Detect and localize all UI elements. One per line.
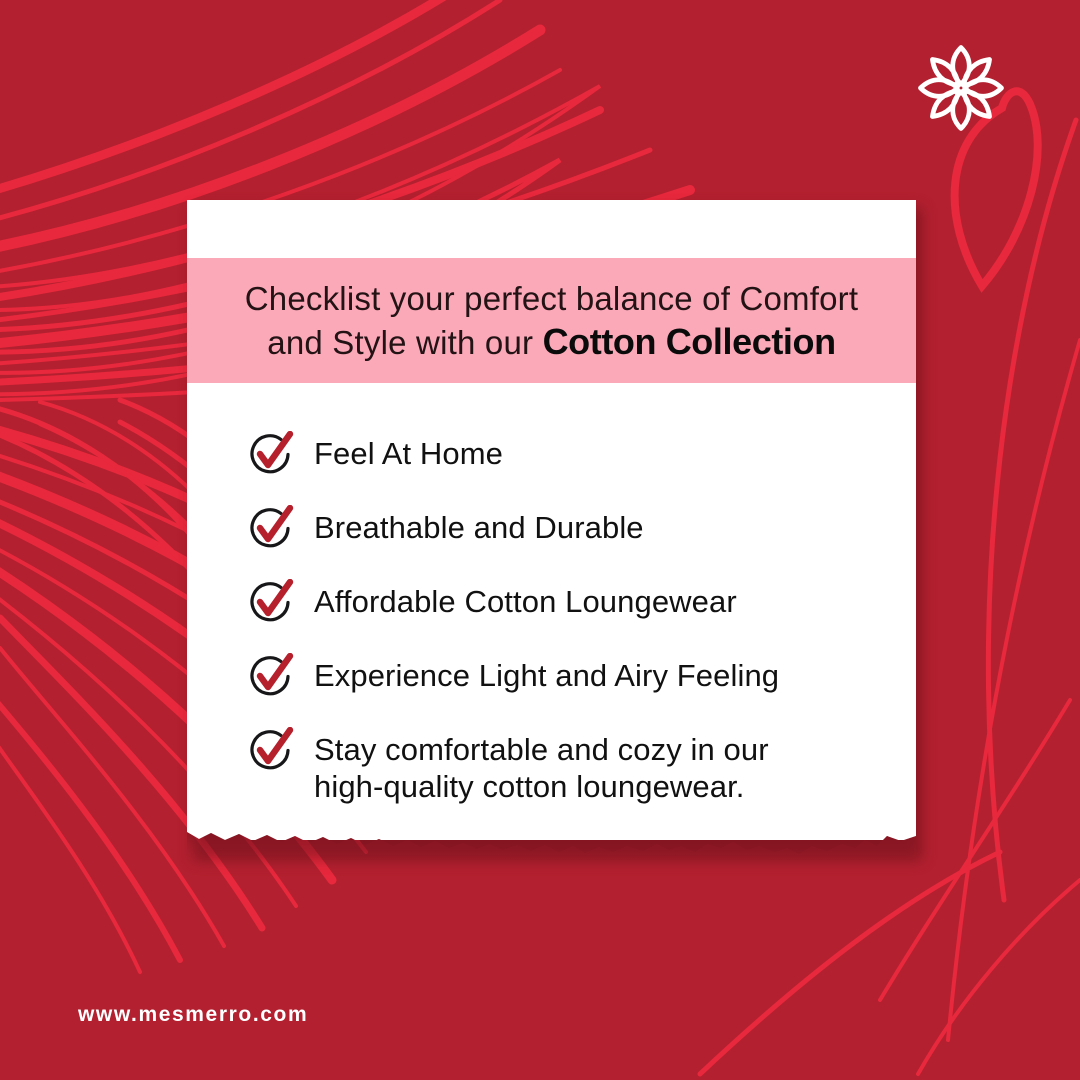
headline-line-1: Checklist your perfect balance of Comfor… — [245, 277, 858, 320]
headline-line-2-prefix: and Style with our — [267, 324, 542, 361]
site-url[interactable]: www.mesmerro.com — [78, 1003, 308, 1027]
headline: Checklist your perfect balance of Comfor… — [187, 258, 916, 383]
list-item-label: Feel At Home — [314, 432, 503, 472]
headline-emphasis: Cotton Collection — [543, 321, 836, 362]
promo-poster: Checklist your perfect balance of Comfor… — [0, 0, 1080, 1080]
flower-rosette-icon — [915, 42, 1007, 134]
headline-line-2: and Style with our Cotton Collection — [267, 320, 835, 364]
check-circle-icon — [247, 579, 295, 627]
list-item-label: Stay comfortable and cozy in our high-qu… — [314, 728, 844, 805]
card-body: Checklist your perfect balance of Comfor… — [187, 200, 916, 860]
list-item-label: Breathable and Durable — [314, 506, 644, 546]
check-circle-icon — [247, 505, 295, 553]
check-circle-icon — [247, 431, 295, 479]
list-item: Breathable and Durable — [247, 506, 887, 553]
list-item-label: Affordable Cotton Loungewear — [314, 580, 737, 620]
list-item: Stay comfortable and cozy in our high-qu… — [247, 728, 887, 805]
check-circle-icon — [247, 727, 295, 775]
check-circle-icon — [247, 653, 295, 701]
list-item-label: Experience Light and Airy Feeling — [314, 654, 779, 694]
list-item: Feel At Home — [247, 432, 887, 479]
list-item: Affordable Cotton Loungewear — [247, 580, 887, 627]
list-item: Experience Light and Airy Feeling — [247, 654, 887, 701]
checklist-card: Checklist your perfect balance of Comfor… — [187, 200, 916, 860]
checklist: Feel At Home Breathable and Durable Affo… — [247, 432, 887, 805]
